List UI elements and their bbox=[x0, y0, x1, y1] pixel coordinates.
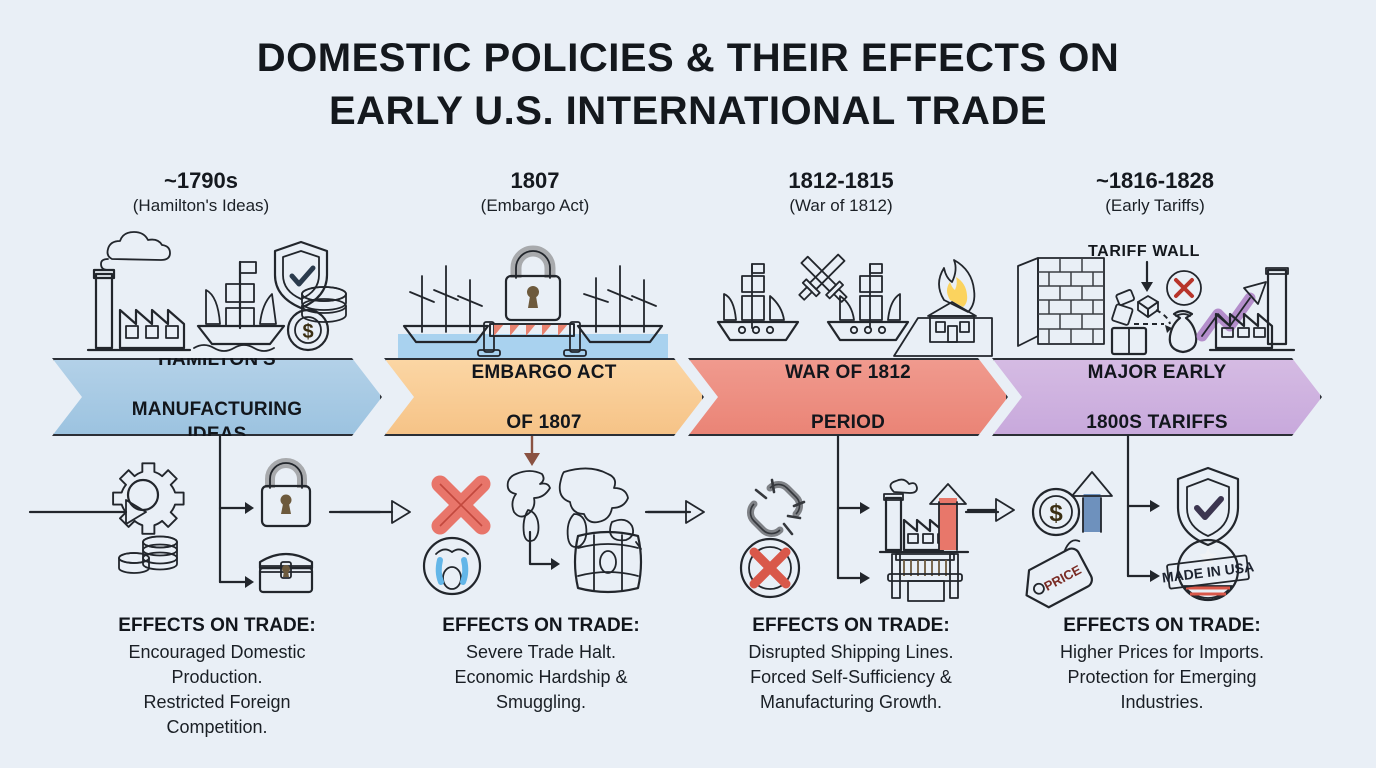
era-label: ~1790s bbox=[36, 168, 366, 194]
effects-block-column-3: EFFECTS ON TRADE: Disrupted Shipping Lin… bbox=[678, 612, 1024, 715]
illustration-column-2 bbox=[398, 240, 668, 358]
effects-line: Smuggling. bbox=[376, 690, 706, 715]
effects-body: Severe Trade Halt. Economic Hardship & S… bbox=[376, 640, 706, 715]
effects-line: Manufacturing Growth. bbox=[678, 690, 1024, 715]
factory-smoke-icon bbox=[88, 270, 190, 350]
loom-icon bbox=[888, 554, 962, 601]
factory-growth-icon bbox=[880, 480, 968, 552]
banner-line-2: OF 1807 bbox=[437, 410, 650, 435]
effects-line: Higher Prices for Imports. bbox=[992, 640, 1332, 665]
crying-face-icon bbox=[424, 538, 480, 594]
effects-block-column-1: EFFECTS ON TRADE: Encouraged Domestic Pr… bbox=[52, 612, 382, 740]
illustration-column-1: $ bbox=[82, 232, 352, 358]
banner-war-of-1812-period[interactable]: WAR OF 1812PERIOD bbox=[688, 358, 1008, 436]
treasure-chest-icon bbox=[260, 554, 312, 592]
era-subtitle: (Embargo Act) bbox=[370, 194, 700, 218]
effects-line: Competition. bbox=[52, 715, 382, 740]
banner-text: WAR OF 1812PERIOD bbox=[717, 360, 979, 435]
shield-check-icon bbox=[275, 242, 327, 308]
effects-title: EFFECTS ON TRADE: bbox=[376, 612, 706, 640]
column-header-1: ~1790s (Hamilton's Ideas) bbox=[36, 168, 366, 218]
warship-icon bbox=[828, 264, 908, 340]
padlock-icon bbox=[262, 463, 310, 526]
red-x-icon bbox=[440, 484, 482, 526]
svg-text:$: $ bbox=[1049, 500, 1063, 527]
banner-text: HAMILTON'SMANUFACTURING IDEAS bbox=[54, 347, 380, 447]
world-map-icon bbox=[508, 468, 641, 549]
effects-block-column-2: EFFECTS ON TRADE: Severe Trade Halt. Eco… bbox=[376, 612, 706, 715]
coin-stack-icon bbox=[119, 537, 177, 574]
title-line-2: EARLY U.S. INTERNATIONAL TRADE bbox=[0, 85, 1376, 138]
effects-body: Higher Prices for Imports. Protection fo… bbox=[992, 640, 1332, 715]
sailing-ship-icon bbox=[194, 262, 284, 351]
red-x-circle-icon bbox=[1167, 271, 1201, 305]
effects-line: Industries. bbox=[992, 690, 1332, 715]
effects-line: Encouraged Domestic bbox=[52, 640, 382, 665]
effects-line: Forced Self-Sufficiency & bbox=[678, 665, 1024, 690]
effects-icons-column-4: $ PRICE bbox=[968, 436, 1308, 596]
docked-ship-icon bbox=[578, 266, 662, 342]
brick-wall-icon bbox=[1018, 258, 1104, 346]
padlock-icon bbox=[506, 251, 560, 320]
dollar-coin-up-icon: $ bbox=[1033, 472, 1112, 535]
made-in-usa-badge-icon: MADE IN USA bbox=[1161, 540, 1256, 600]
banner-line-2: 1800s TARIFFS bbox=[1052, 410, 1262, 435]
gear-icon bbox=[113, 463, 184, 534]
effects-line: Protection for Emerging bbox=[992, 665, 1332, 690]
effects-block-column-4: EFFECTS ON TRADE: Higher Prices for Impo… bbox=[992, 612, 1332, 715]
banner-line-1: MAJOR EARLY bbox=[1052, 360, 1262, 385]
banner-line-2: PERIOD bbox=[751, 410, 945, 435]
docked-ship-icon bbox=[404, 266, 488, 342]
effects-line: Disrupted Shipping Lines. bbox=[678, 640, 1024, 665]
era-subtitle: (Hamilton's Ideas) bbox=[36, 194, 366, 218]
burning-building-icon bbox=[928, 260, 976, 342]
banner-major-early-1800s-tariffs[interactable]: MAJOR EARLY1800s TARIFFS bbox=[992, 358, 1322, 436]
era-label: 1807 bbox=[370, 168, 700, 194]
banner-text: MAJOR EARLY1800s TARIFFS bbox=[1018, 360, 1296, 435]
column-header-2: 1807 (Embargo Act) bbox=[370, 168, 700, 218]
page-title: DOMESTIC POLICIES & THEIR EFFECTS ON EAR… bbox=[0, 32, 1376, 138]
column-header-4: ~1816-1828 (Early Tariffs) bbox=[985, 168, 1325, 218]
banner-embargo-act-of-1807[interactable]: EMBARGO ACTOF 1807 bbox=[384, 358, 704, 436]
banner-text: EMBARGO ACTOF 1807 bbox=[403, 360, 684, 435]
effects-body: Disrupted Shipping Lines. Forced Self-Su… bbox=[678, 640, 1024, 715]
prohibition-circle-icon bbox=[741, 539, 799, 597]
title-line-1: DOMESTIC POLICIES & THEIR EFFECTS ON bbox=[0, 32, 1376, 85]
era-label: ~1816-1828 bbox=[985, 168, 1325, 194]
era-subtitle: (Early Tariffs) bbox=[985, 194, 1325, 218]
made-in-usa-text: MADE IN USA bbox=[1161, 558, 1255, 585]
effects-line: Restricted Foreign bbox=[52, 690, 382, 715]
effects-icons-column-1 bbox=[30, 436, 380, 596]
era-subtitle: (War of 1812) bbox=[676, 194, 1006, 218]
effects-line: Production. bbox=[52, 665, 382, 690]
column-header-3: 1812-1815 (War of 1812) bbox=[676, 168, 1006, 218]
shield-check-icon bbox=[1178, 468, 1238, 545]
cargo-box-icon bbox=[1112, 289, 1172, 354]
warship-icon bbox=[718, 264, 798, 340]
banner-hamiltons-manufacturing-ideas[interactable]: HAMILTON'SMANUFACTURING IDEAS bbox=[52, 358, 382, 436]
price-tag-icon: PRICE bbox=[1014, 538, 1100, 614]
effects-title: EFFECTS ON TRADE: bbox=[992, 612, 1332, 640]
price-tag-text: PRICE bbox=[1042, 562, 1084, 594]
tariff-wall-annotation: TARIFF WALL bbox=[1088, 243, 1200, 261]
banner-line-1: WAR OF 1812 bbox=[751, 360, 945, 385]
infographic-canvas: DOMESTIC POLICIES & THEIR EFFECTS ON EAR… bbox=[0, 0, 1376, 768]
money-bag-icon bbox=[1170, 311, 1196, 352]
era-label: 1812-1815 bbox=[676, 168, 1006, 194]
banner-line-1: EMBARGO ACT bbox=[437, 360, 650, 385]
smoke-icon bbox=[101, 232, 170, 270]
effects-line: Economic Hardship & bbox=[376, 665, 706, 690]
effects-line: Severe Trade Halt. bbox=[376, 640, 706, 665]
effects-icons-column-2 bbox=[340, 436, 690, 596]
svg-text:$: $ bbox=[302, 321, 313, 343]
effects-title: EFFECTS ON TRADE: bbox=[52, 612, 382, 640]
effects-body: Encouraged Domestic Production. Restrict… bbox=[52, 640, 382, 740]
effects-icons-column-3 bbox=[648, 436, 998, 596]
down-arrow-icon bbox=[1141, 262, 1153, 292]
factory-growth-icon bbox=[1210, 268, 1294, 350]
effects-title: EFFECTS ON TRADE: bbox=[678, 612, 1024, 640]
illustration-column-3 bbox=[712, 238, 992, 360]
broken-chain-icon bbox=[750, 480, 804, 534]
